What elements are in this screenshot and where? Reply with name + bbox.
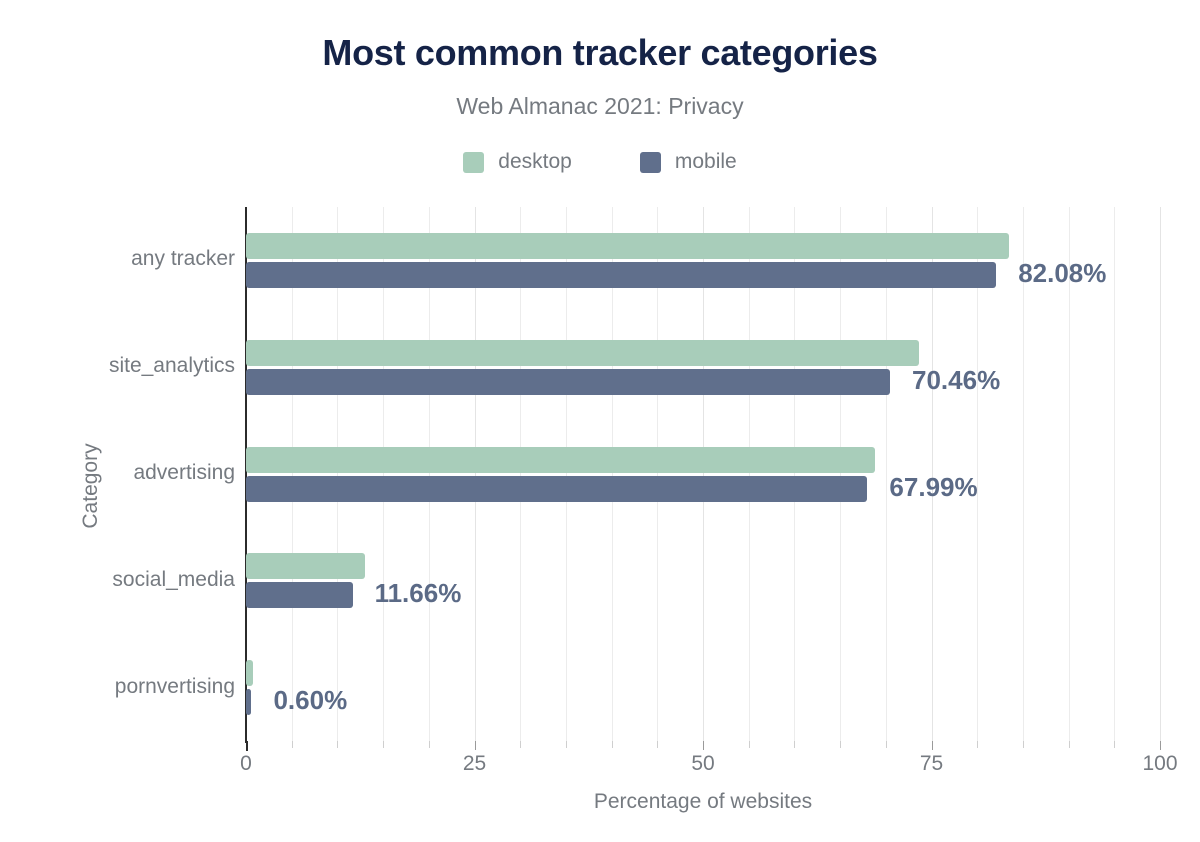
bar-mobile-pornvertising[interactable] — [246, 689, 251, 715]
x-tick-mark-20 — [429, 741, 430, 748]
bar-mobile-social-media[interactable] — [246, 582, 353, 608]
x-tick-mark-45 — [657, 741, 658, 748]
x-tick-mark-35 — [566, 741, 567, 748]
x-tick-mark-30 — [520, 741, 521, 748]
x-tick-label-25: 25 — [463, 752, 486, 776]
value-label-pornvertising: 0.60% — [273, 685, 347, 716]
y-tick-label-social-media: social_media — [5, 568, 235, 592]
value-label-social-media: 11.66% — [375, 578, 462, 609]
x-tick-label-100: 100 — [1142, 752, 1177, 776]
x-tick-mark-10 — [337, 741, 338, 748]
chart-title: Most common tracker categories — [0, 32, 1200, 74]
y-tick-label-site-analytics: site_analytics — [5, 354, 235, 378]
bar-mobile-advertising[interactable] — [246, 476, 867, 502]
bar-desktop-any-tracker[interactable] — [246, 233, 1009, 259]
bar-desktop-social-media[interactable] — [246, 553, 365, 579]
chart-container: Most common tracker categories Web Alman… — [0, 0, 1200, 842]
value-label-advertising: 67.99% — [889, 472, 977, 503]
x-tick-mark-70 — [886, 741, 887, 748]
legend-item-desktop[interactable]: desktop — [463, 150, 572, 174]
x-tick-mark-55 — [749, 741, 750, 748]
value-label-any-tracker: 82.08% — [1018, 258, 1106, 289]
bar-desktop-pornvertising[interactable] — [246, 660, 253, 686]
x-tick-mark-0 — [246, 741, 248, 751]
x-tick-mark-85 — [1023, 741, 1024, 748]
x-axis-title: Percentage of websites — [246, 790, 1160, 814]
legend-swatch-desktop — [463, 152, 484, 173]
value-label-site-analytics: 70.46% — [912, 365, 1000, 396]
x-tick-label-50: 50 — [691, 752, 714, 776]
chart-subtitle: Web Almanac 2021: Privacy — [0, 93, 1200, 120]
legend-item-mobile[interactable]: mobile — [640, 150, 737, 174]
plot-area: 82.08%70.46%67.99%11.66%0.60% — [246, 207, 1160, 741]
x-tick-mark-50 — [703, 741, 704, 750]
x-tick-mark-40 — [612, 741, 613, 748]
x-tick-mark-80 — [977, 741, 978, 748]
bar-mobile-any-tracker[interactable] — [246, 262, 996, 288]
y-tick-label-advertising: advertising — [5, 461, 235, 485]
y-tick-label-pornvertising: pornvertising — [5, 675, 235, 699]
bar-desktop-site-analytics[interactable] — [246, 340, 919, 366]
x-tick-mark-100 — [1160, 741, 1161, 750]
chart-legend: desktopmobile — [0, 150, 1200, 174]
x-tick-mark-25 — [475, 741, 476, 750]
bar-desktop-advertising[interactable] — [246, 447, 875, 473]
x-tick-mark-60 — [794, 741, 795, 748]
x-tick-label-75: 75 — [920, 752, 943, 776]
y-axis-title: Category — [79, 386, 103, 586]
legend-swatch-mobile — [640, 152, 661, 173]
gridline-100 — [1160, 207, 1161, 741]
legend-label-mobile: mobile — [675, 150, 737, 174]
gridline-95 — [1114, 207, 1115, 741]
bar-mobile-site-analytics[interactable] — [246, 369, 890, 395]
x-tick-mark-5 — [292, 741, 293, 748]
y-tick-label-any-tracker: any tracker — [5, 247, 235, 271]
x-tick-mark-65 — [840, 741, 841, 748]
x-tick-mark-75 — [932, 741, 933, 750]
legend-label-desktop: desktop — [498, 150, 572, 174]
x-tick-mark-90 — [1069, 741, 1070, 748]
x-tick-mark-95 — [1114, 741, 1115, 748]
y-axis-tick-labels: any trackersite_analyticsadvertisingsoci… — [0, 207, 235, 741]
x-tick-mark-15 — [383, 741, 384, 748]
x-tick-label-0: 0 — [240, 752, 252, 776]
